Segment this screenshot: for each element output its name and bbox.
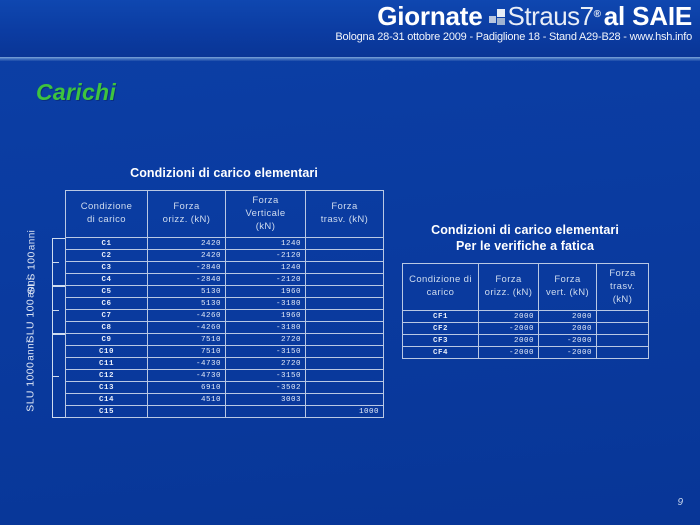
fatigue-table-caption: Condizioni di carico elementari Per le v… [402,222,648,254]
main-cell-orizz: 5130 [148,298,226,310]
fatigue-table-header-cell-1: Forzaorizz. (kN) [479,264,539,311]
fatigue-table-header-line: carico [405,287,476,300]
table-row: C136910-3502 [66,382,384,394]
table-row: C4-2840-2120 [66,274,384,286]
table-row: C8-4260-3180 [66,322,384,334]
event-subtitle: Bologna 28-31 ottobre 2009 - Padiglione … [335,32,692,43]
main-cell-verticale: -3150 [226,346,306,358]
fatigue-cell-vert: 2000 [539,311,597,323]
table-row: CF4-2000-2000 [403,347,649,359]
main-cell-orizz: 2420 [148,250,226,262]
main-cell-condizione: C10 [66,346,148,358]
fatigue-load-table: Condizione dicaricoForzaorizz. (kN)Forza… [402,263,649,359]
fatigue-cell-vert: -2000 [539,335,597,347]
slide-page-number: 9 [677,497,683,508]
load-group-2: anniSLU 100 [10,286,66,334]
main-table-header-cell-0: Condizionedi carico [66,191,148,238]
main-cell-trasv [306,382,384,394]
fatigue-cell-condizione: CF3 [403,335,479,347]
fatigue-table-header-line: Condizione di [405,274,476,287]
main-cell-condizione: C2 [66,250,148,262]
table-row: C11-47302720 [66,358,384,370]
main-cell-verticale: 3003 [226,394,306,406]
table-row: C12-4730-3150 [66,370,384,382]
main-table-header-line: trasv. (kN) [308,214,381,227]
main-table-caption: Condizioni di carico elementari [65,165,383,181]
main-load-table-block: Condizioni di carico elementari Condizio… [65,165,383,418]
main-cell-trasv [306,394,384,406]
main-cell-orizz: -4730 [148,370,226,382]
event-title-part2: Straus7 [508,3,594,29]
table-row: C7-42601960 [66,310,384,322]
main-cell-condizione: C3 [66,262,148,274]
group-brace-icon [52,238,66,286]
load-group-label: anniSLU 1000 [10,334,52,418]
main-cell-verticale: -2120 [226,274,306,286]
main-cell-orizz: 6910 [148,382,226,394]
table-row: C975102720 [66,334,384,346]
fatigue-table-header-cell-3: Forzatrasv.(kN) [597,264,649,311]
main-table-header-line: Forza [228,195,303,208]
main-cell-condizione: C1 [66,238,148,250]
main-cell-orizz: 4510 [148,394,226,406]
main-table-header-cell-2: ForzaVerticale(kN) [226,191,306,238]
main-table-header-line: Forza [308,201,381,214]
main-cell-orizz: 7510 [148,346,226,358]
table-row: C124201240 [66,238,384,250]
main-cell-orizz: 5130 [148,286,226,298]
main-cell-trasv [306,358,384,370]
fatigue-cell-trasv [597,311,649,323]
fatigue-cell-orizz: -2000 [479,323,539,335]
table-row: C107510-3150 [66,346,384,358]
main-cell-orizz: 2420 [148,238,226,250]
fatigue-cell-trasv [597,323,649,335]
main-cell-verticale: 1240 [226,262,306,274]
page-title: Carichi [36,79,116,106]
event-title: Giornate Straus7 ® al SAIE [335,3,692,29]
load-group-label-sub: anni [26,340,37,361]
main-cell-verticale: 2720 [226,358,306,370]
main-table-header-line: Condizione [68,201,145,214]
event-title-part1: Giornate [377,3,482,29]
fatigue-table-header-line: (kN) [599,294,646,307]
main-cell-trasv [306,322,384,334]
load-group-brackets: anniSLS 100anniSLU 100anniSLU 1000 [10,248,66,444]
fatigue-cell-orizz: 2000 [479,311,539,323]
main-cell-condizione: C14 [66,394,148,406]
load-group-label-main: SLU 1000 [25,362,37,412]
fatigue-cell-orizz: 2000 [479,335,539,347]
fatigue-table-header-row: Condizione dicaricoForzaorizz. (kN)Forza… [403,264,649,311]
load-group-label-sub: anni [26,230,37,251]
fatigue-cell-condizione: CF4 [403,347,479,359]
header-divider [0,57,700,61]
main-cell-verticale: -3502 [226,382,306,394]
main-cell-verticale: 2720 [226,334,306,346]
fatigue-table-head: Condizione dicaricoForzaorizz. (kN)Forza… [403,264,649,311]
main-cell-condizione: C15 [66,406,148,418]
load-group-1: anniSLS 100 [10,238,66,286]
fatigue-caption-line1: Condizioni di carico elementari [402,222,648,238]
fatigue-table-header-line: vert. (kN) [541,287,594,300]
main-cell-condizione: C9 [66,334,148,346]
fatigue-table-body: CF120002000CF2-20002000CF32000-2000CF4-2… [403,311,649,359]
main-cell-verticale: 1960 [226,286,306,298]
main-cell-orizz [148,406,226,418]
main-cell-trasv [306,298,384,310]
main-cell-trasv [306,286,384,298]
main-cell-condizione: C5 [66,286,148,298]
main-cell-orizz: 7510 [148,334,226,346]
event-title-part3: al SAIE [604,3,692,29]
main-cell-orizz: -2840 [148,262,226,274]
main-load-table: Condizionedi caricoForzaorizz. (kN)Forza… [65,190,384,418]
main-table-header-line: Verticale [228,208,303,221]
slide-canvas: Giornate Straus7 ® al SAIE Bologna 28-31… [0,0,700,525]
main-table-header-row: Condizionedi caricoForzaorizz. (kN)Forza… [66,191,384,238]
main-cell-trasv: 1000 [306,406,384,418]
table-row: C22420-2120 [66,250,384,262]
table-row: C151000 [66,406,384,418]
main-cell-condizione: C12 [66,370,148,382]
fatigue-table-header-line: Forza [599,268,646,281]
load-group-label-sub: anni [26,277,37,298]
fatigue-cell-trasv [597,347,649,359]
main-table-header-line: di carico [68,214,145,227]
fatigue-table-header-line: Forza [541,274,594,287]
main-cell-verticale: -3150 [226,370,306,382]
main-table-header-line: orizz. (kN) [150,214,223,227]
table-row: C65130-3180 [66,298,384,310]
table-row: CF120002000 [403,311,649,323]
table-row: C3-28401240 [66,262,384,274]
fatigue-cell-condizione: CF2 [403,323,479,335]
main-cell-verticale: 1240 [226,238,306,250]
table-row: CF2-20002000 [403,323,649,335]
main-cell-trasv [306,262,384,274]
group-brace-icon [52,334,66,418]
main-table-header-cell-1: Forzaorizz. (kN) [148,191,226,238]
main-cell-verticale: -3180 [226,322,306,334]
table-row: CF32000-2000 [403,335,649,347]
main-cell-trasv [306,370,384,382]
fatigue-table-header-cell-0: Condizione dicarico [403,264,479,311]
main-cell-trasv [306,238,384,250]
main-cell-trasv [306,310,384,322]
fatigue-caption-line2: Per le verifiche a fatica [402,238,648,254]
registered-mark-icon: ® [594,10,601,20]
table-row: C1445103003 [66,394,384,406]
load-group-label: anniSLU 100 [10,286,52,334]
main-cell-trasv [306,334,384,346]
fatigue-cell-trasv [597,335,649,347]
fatigue-table-header-line: Forza [481,274,536,287]
fatigue-load-table-block: Condizioni di carico elementari Per le v… [402,222,648,359]
main-cell-condizione: C7 [66,310,148,322]
header-banner-content: Giornate Straus7 ® al SAIE Bologna 28-31… [335,3,692,43]
main-cell-condizione: C11 [66,358,148,370]
fatigue-cell-vert: 2000 [539,323,597,335]
main-cell-trasv [306,274,384,286]
main-cell-trasv [306,250,384,262]
main-table-body: C124201240C22420-2120C3-28401240C4-2840-… [66,238,384,418]
fatigue-cell-orizz: -2000 [479,347,539,359]
main-cell-trasv [306,346,384,358]
main-table-header-line: Forza [150,201,223,214]
main-cell-verticale: 1960 [226,310,306,322]
table-row: C551301960 [66,286,384,298]
main-cell-verticale [226,406,306,418]
main-cell-condizione: C8 [66,322,148,334]
fatigue-table-header-cell-2: Forzavert. (kN) [539,264,597,311]
fatigue-cell-condizione: CF1 [403,311,479,323]
main-cell-orizz: -4730 [148,358,226,370]
main-cell-orizz: -2840 [148,274,226,286]
main-table-head: Condizionedi caricoForzaorizz. (kN)Forza… [66,191,384,238]
main-cell-orizz: -4260 [148,310,226,322]
fatigue-cell-vert: -2000 [539,347,597,359]
load-group-3: anniSLU 1000 [10,334,66,418]
main-table-header-cell-3: Forzatrasv. (kN) [306,191,384,238]
fatigue-table-header-line: orizz. (kN) [481,287,536,300]
main-cell-condizione: C6 [66,298,148,310]
main-cell-verticale: -2120 [226,250,306,262]
main-table-header-line: (kN) [228,221,303,234]
group-brace-icon [52,286,66,334]
main-cell-orizz: -4260 [148,322,226,334]
straus7-squares-icon [489,9,505,25]
main-cell-condizione: C4 [66,274,148,286]
fatigue-table-header-line: trasv. [599,281,646,294]
main-cell-verticale: -3180 [226,298,306,310]
header-banner: Giornate Straus7 ® al SAIE Bologna 28-31… [0,0,700,57]
main-cell-condizione: C13 [66,382,148,394]
